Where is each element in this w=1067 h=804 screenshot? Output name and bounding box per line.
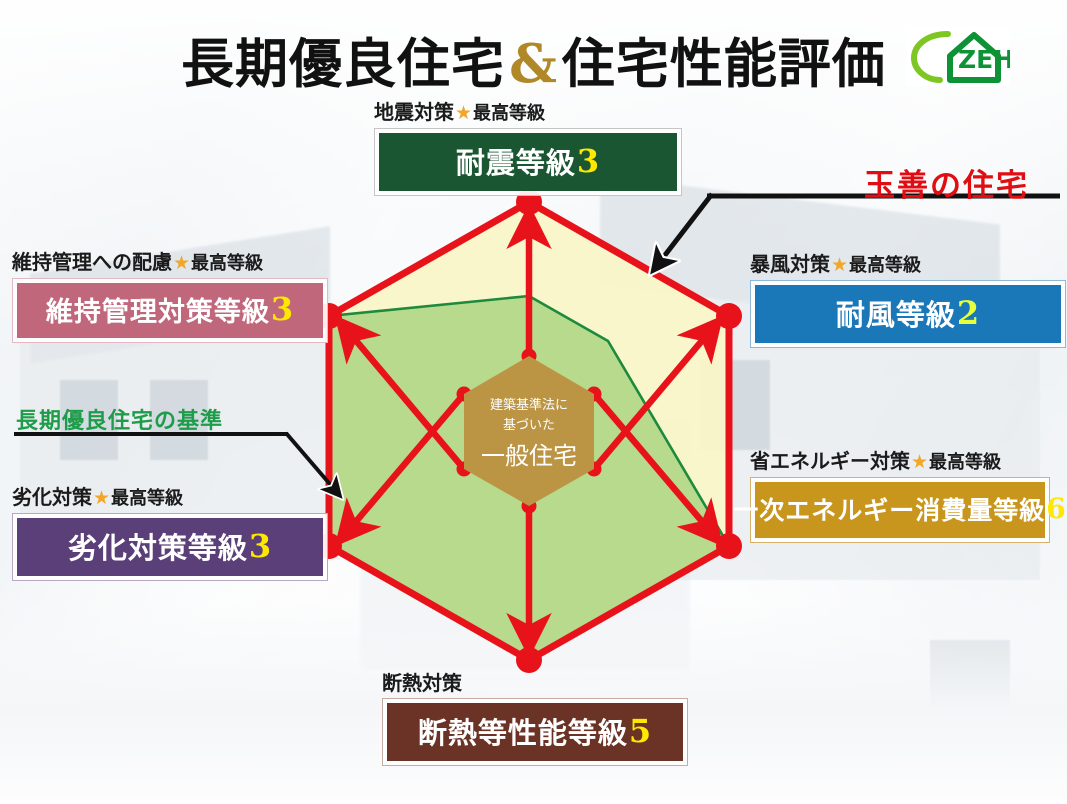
caption-text: 劣化対策 [12, 485, 92, 509]
chip-insulation[interactable]: 断熱等性能等級5 [387, 703, 683, 761]
grade-note: 最高等級 [929, 452, 1001, 473]
star-icon: ★ [172, 252, 191, 274]
star-icon: ★ [830, 254, 849, 276]
axis-caption-maintenance: 維持管理への配慮★最高等級 [12, 251, 328, 274]
callout-chouki: 長期優良住宅の基準 [16, 403, 223, 435]
caption-text: 断熱対策 [382, 671, 462, 695]
zeh-logo-text: ZEH [958, 45, 1010, 74]
grade-note: 最高等級 [473, 103, 545, 124]
star-icon: ★ [92, 487, 111, 509]
center-text-line3: 一般住宅 [481, 442, 577, 470]
chip-maintenance[interactable]: 維持管理対策等級3 [17, 283, 323, 338]
chip-value: 2 [956, 294, 980, 332]
chip-wind[interactable]: 耐風等級2 [755, 285, 1061, 343]
chip-label: 断熱等性能等級 [418, 710, 628, 752]
grade-note: 最高等級 [849, 255, 921, 276]
chip-frame-wind[interactable]: 耐風等級2 [750, 280, 1066, 348]
center-text-line1: 建築基準法に [490, 397, 568, 413]
callout-tamazen: 玉善の住宅 [864, 160, 1029, 205]
chip-frame-maintenance[interactable]: 維持管理対策等級3 [12, 278, 328, 343]
chip-label: 維持管理対策等級 [46, 290, 270, 329]
star-icon: ★ [454, 102, 473, 124]
chip-value: 3 [248, 527, 272, 565]
callout-chouki-label: 長期優良住宅の基準 [16, 403, 223, 435]
title-part2: 住宅性能評価 [562, 33, 886, 95]
chip-frame-energy[interactable]: 一次エネルギー消費量等級6 [750, 477, 1050, 543]
chip-frame-degradation[interactable]: 劣化対策等級3 [12, 513, 328, 581]
grade-note: 最高等級 [111, 488, 183, 509]
chip-label: 耐震等級 [456, 140, 576, 182]
caption-text: 地震対策 [374, 100, 454, 124]
chip-value: 3 [576, 142, 600, 180]
header: 長期優良住宅&住宅性能評価 ZEH [0, 0, 1067, 104]
zeh-leaf-icon [914, 34, 948, 80]
chip-value: 5 [628, 712, 652, 750]
chip-label: 一次エネルギー消費量等級 [733, 491, 1045, 527]
chip-earthquake[interactable]: 耐震等級3 [379, 133, 677, 191]
axis-caption-wind: 暴風対策★最高等級 [750, 253, 1066, 276]
caption-text: 維持管理への配慮 [12, 250, 172, 274]
caption-text: 暴風対策 [750, 252, 830, 276]
axis-label-wind: 暴風対策★最高等級 耐風等級2 [750, 253, 1066, 348]
zeh-logo: ZEH [906, 26, 1010, 86]
axis-caption-earthquake: 地震対策★最高等級 [374, 101, 682, 124]
axis-label-maintenance: 維持管理への配慮★最高等級 維持管理対策等級3 [12, 251, 328, 343]
title-part1: 長期優良住宅 [181, 33, 505, 95]
axis-caption-insulation: 断熱対策 [382, 672, 688, 694]
title-ampersand: & [505, 33, 562, 95]
chip-frame-insulation[interactable]: 断熱等性能等級5 [382, 698, 688, 766]
axis-label-degradation: 劣化対策★最高等級 劣化対策等級3 [12, 486, 328, 581]
chip-energy[interactable]: 一次エネルギー消費量等級6 [755, 482, 1045, 538]
axis-label-insulation: 断熱対策 断熱等性能等級5 [382, 672, 688, 766]
axis-caption-energy: 省エネルギー対策★最高等級 [750, 450, 1050, 473]
axis-label-energy: 省エネルギー対策★最高等級 一次エネルギー消費量等級6 [750, 450, 1050, 543]
callout-tamazen-label: 玉善の住宅 [864, 160, 1029, 205]
axis-caption-degradation: 劣化対策★最高等級 [12, 486, 328, 509]
chip-degradation[interactable]: 劣化対策等級3 [17, 518, 323, 576]
grade-note: 最高等級 [191, 253, 263, 274]
axis-label-earthquake: 地震対策★最高等級 耐震等級3 [374, 101, 682, 196]
center-text-line2: 基づいた [503, 418, 555, 433]
chip-label: 耐風等級 [836, 292, 956, 334]
chip-label: 劣化対策等級 [68, 525, 248, 567]
chip-frame-earthquake[interactable]: 耐震等級3 [374, 128, 682, 196]
star-icon: ★ [910, 451, 929, 473]
chip-value: 3 [270, 290, 294, 328]
chip-value: 6 [1045, 492, 1066, 525]
caption-text: 省エネルギー対策 [750, 449, 910, 473]
